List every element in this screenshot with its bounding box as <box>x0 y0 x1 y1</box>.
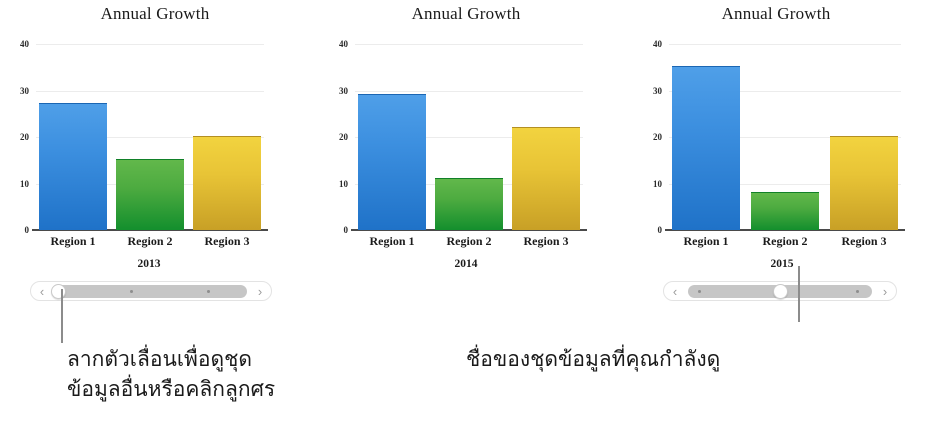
bar-region-2 <box>116 159 184 230</box>
charts-row: Annual Growth 40 30 20 10 0 Region 1 Reg… <box>0 0 931 310</box>
chevron-right-icon[interactable]: › <box>249 285 271 298</box>
x-tick-label: Region 2 <box>748 234 822 252</box>
chart-title: Annual Growth <box>311 4 621 24</box>
chevron-left-icon[interactable]: ‹ <box>31 285 53 298</box>
x-tick-label: Region 3 <box>509 234 583 252</box>
bar-slot <box>669 44 743 230</box>
plot-area: 40 30 20 10 0 <box>36 44 264 230</box>
bar-region-1 <box>358 94 426 230</box>
bar-slot <box>355 44 429 230</box>
x-tick-label: Region 1 <box>669 234 743 252</box>
x-axis-labels: Region 1 Region 2 Region 3 <box>36 234 264 252</box>
bar-slot <box>827 44 901 230</box>
y-tick-label: 0 <box>658 225 663 235</box>
plot-area: 40 30 20 10 0 <box>669 44 901 230</box>
callout-text-series-name: ชื่อของชุดข้อมูลที่คุณกำลังดู <box>466 345 720 375</box>
slider-tick-dot[interactable] <box>207 290 210 293</box>
x-axis-labels: Region 1 Region 2 Region 3 <box>355 234 583 252</box>
y-tick-label: 30 <box>339 86 348 96</box>
callout-text-slider: ลากตัวเลื่อนเพื่อดูชุด ข้อมูลอื่นหรือคลิ… <box>67 345 275 405</box>
bars-group <box>669 44 901 230</box>
bars-group <box>36 44 264 230</box>
bars-group <box>355 44 583 230</box>
slider-tick-dot[interactable] <box>130 290 133 293</box>
x-axis-labels: Region 1 Region 2 Region 3 <box>669 234 901 252</box>
chart-panel-2013: Annual Growth 40 30 20 10 0 Region 1 Reg… <box>0 0 310 310</box>
bar-slot <box>509 44 583 230</box>
y-tick-label: 0 <box>25 225 30 235</box>
y-tick-label: 20 <box>339 132 348 142</box>
plot-area: 40 30 20 10 0 <box>355 44 583 230</box>
y-tick-label: 10 <box>653 179 662 189</box>
bar-region-2 <box>435 178 503 230</box>
data-set-slider[interactable]: ‹ › <box>30 281 272 301</box>
series-name-label: 2014 <box>311 258 621 270</box>
slider-track[interactable] <box>55 285 247 298</box>
chart-title: Annual Growth <box>621 4 931 24</box>
bar-slot <box>36 44 110 230</box>
y-tick-label: 30 <box>653 86 662 96</box>
bar-slot <box>432 44 506 230</box>
bar-slot <box>748 44 822 230</box>
chart-title: Annual Growth <box>0 4 310 24</box>
bar-region-2 <box>751 192 819 230</box>
bar-region-3 <box>830 136 898 230</box>
callout-leader-line-right <box>798 266 800 322</box>
y-tick-label: 40 <box>339 39 348 49</box>
y-tick-label: 10 <box>339 179 348 189</box>
x-tick-label: Region 3 <box>827 234 901 252</box>
x-tick-label: Region 1 <box>355 234 429 252</box>
y-tick-label: 40 <box>653 39 662 49</box>
chart-panel-2015: Annual Growth 40 30 20 10 0 Region 1 Reg… <box>621 0 931 310</box>
bar-region-1 <box>672 66 740 230</box>
bar-region-3 <box>193 136 261 230</box>
y-tick-label: 40 <box>20 39 29 49</box>
y-tick-label: 10 <box>20 179 29 189</box>
bar-region-1 <box>39 103 107 230</box>
slider-knob[interactable] <box>51 284 66 299</box>
callout-leader-line-left <box>61 289 63 343</box>
bar-slot <box>113 44 187 230</box>
x-tick-label: Region 2 <box>432 234 506 252</box>
y-tick-label: 20 <box>20 132 29 142</box>
x-tick-label: Region 2 <box>113 234 187 252</box>
y-tick-label: 30 <box>20 86 29 96</box>
series-name-label: 2013 <box>0 258 304 270</box>
bar-region-3 <box>512 127 580 230</box>
y-tick-label: 0 <box>344 225 349 235</box>
x-tick-label: Region 3 <box>190 234 264 252</box>
series-name-label: 2015 <box>627 258 931 270</box>
y-tick-label: 20 <box>653 132 662 142</box>
bar-slot <box>190 44 264 230</box>
chart-panel-2014: Annual Growth 40 30 20 10 0 Region 1 Reg… <box>311 0 621 310</box>
x-tick-label: Region 1 <box>36 234 110 252</box>
